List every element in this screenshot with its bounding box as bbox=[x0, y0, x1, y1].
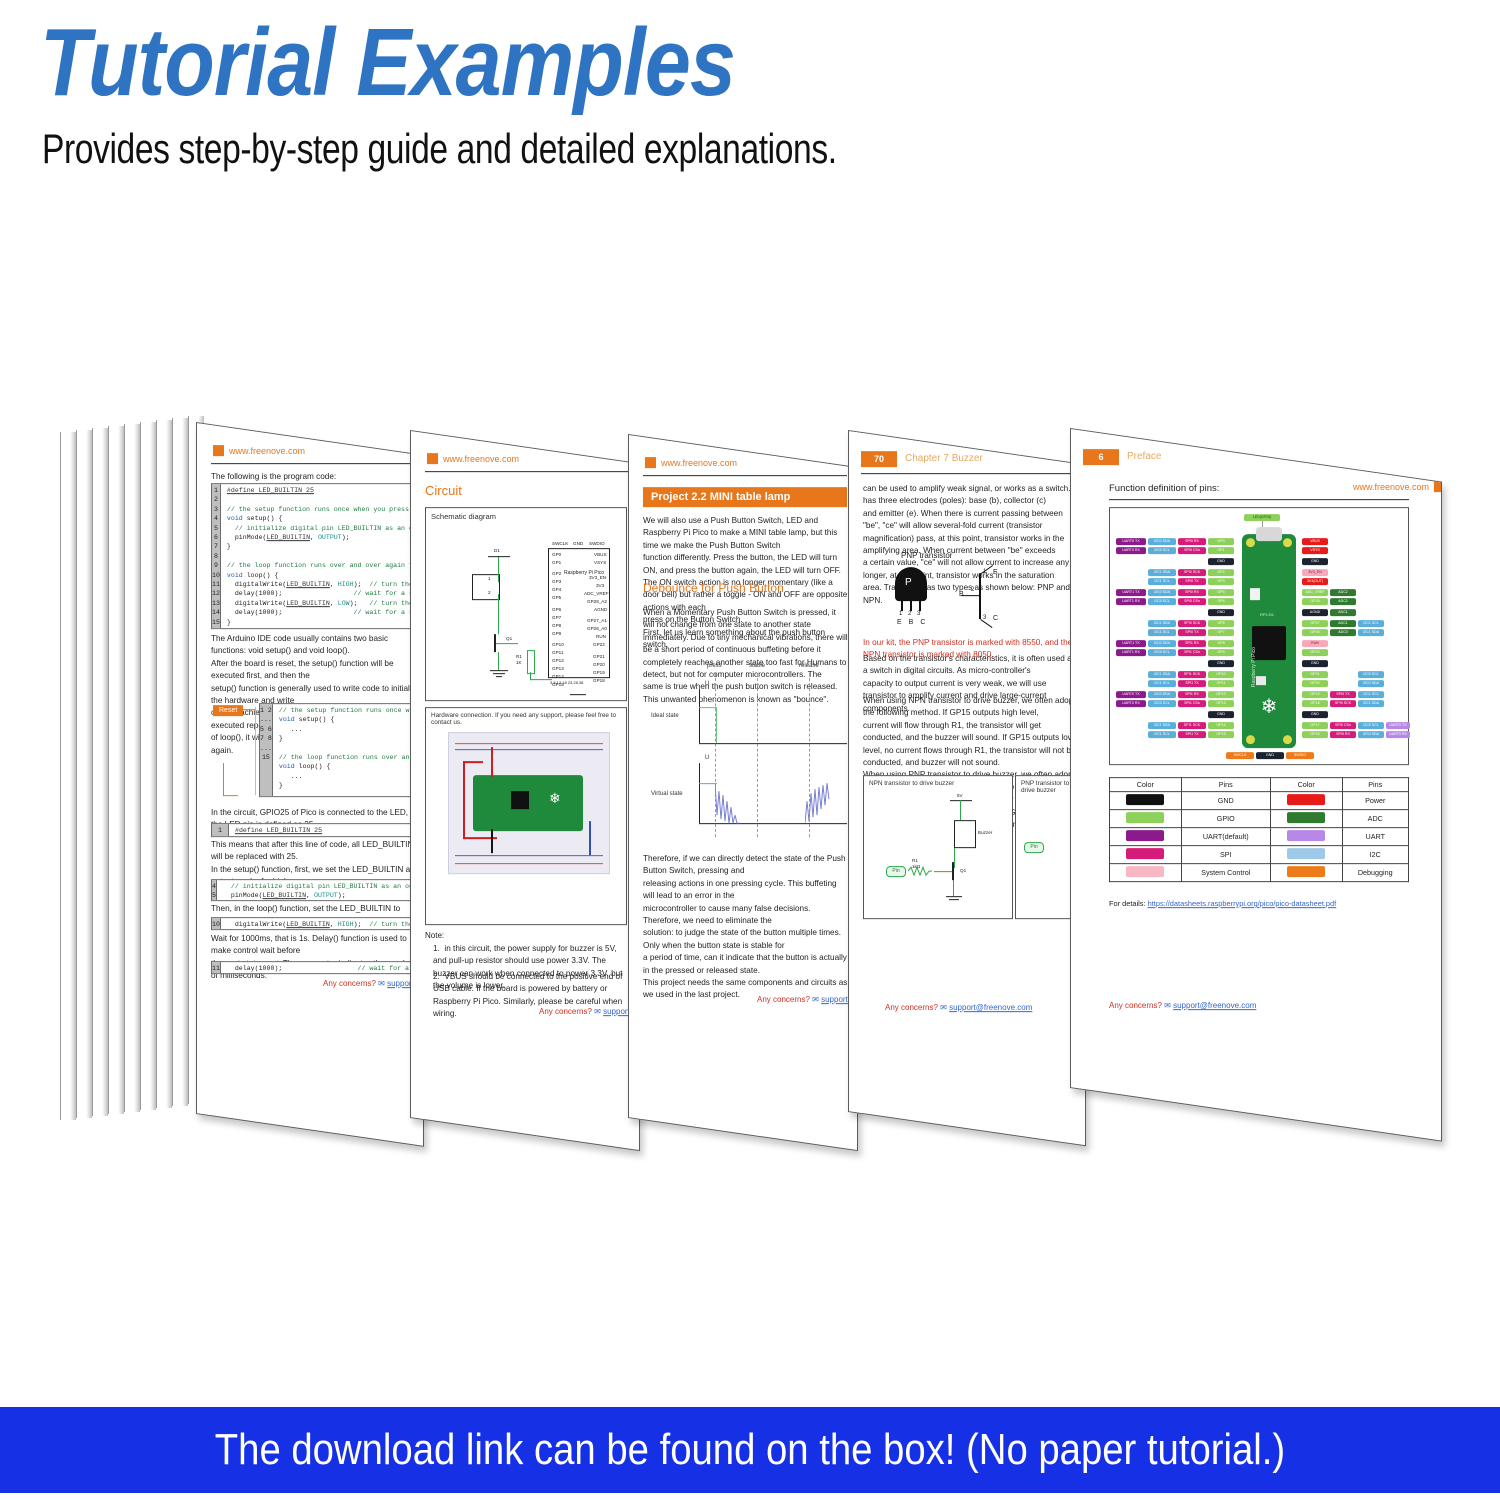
page-footer: Any concerns? ✉ support@freenove.com bbox=[539, 1007, 640, 1016]
legend-swatch-cell bbox=[1270, 828, 1342, 846]
symbol-pin-num: 1 bbox=[983, 569, 986, 575]
transistor-pin-num: 2 bbox=[908, 611, 911, 617]
jumper-wire-red bbox=[491, 747, 493, 777]
schematic-part-ref: R1 bbox=[516, 654, 522, 659]
code-block-flow: 1 2 ... 5 6 7 8 ... 15 // the setup func… bbox=[259, 703, 413, 797]
schematic-supply-rail bbox=[488, 556, 510, 557]
waveform-row-label: Virtual state bbox=[651, 791, 683, 797]
transistor-legend: EBC bbox=[897, 619, 932, 626]
download-banner-text: The download link can be found on the bo… bbox=[98, 1407, 1403, 1493]
legend-header-color: Color bbox=[1270, 778, 1342, 792]
schematic-ground-bottom bbox=[570, 694, 586, 695]
header-rule bbox=[1109, 499, 1409, 500]
schematic-top-pin: SWDIO bbox=[589, 541, 605, 546]
code-text: // the setup function runs once when you… bbox=[273, 704, 424, 796]
waveform-ideal-trace bbox=[699, 707, 717, 708]
code-text: #define LED_BUILTIN 25 bbox=[229, 824, 412, 836]
code-intro: The following is the program code: bbox=[211, 471, 411, 483]
tutorial-sheet-code[interactable]: www.freenove.com The following is the pr… bbox=[196, 422, 424, 1147]
envelope-icon: ✉ bbox=[1164, 1001, 1171, 1010]
page-footer: Any concerns? ✉ support@freenove.com bbox=[885, 1003, 1032, 1012]
jumper-wire-black bbox=[491, 829, 493, 853]
legend-swatch-cell bbox=[1110, 828, 1182, 846]
envelope-icon: ✉ bbox=[940, 1003, 947, 1012]
usb-port-icon bbox=[1256, 527, 1282, 541]
schematic-wire bbox=[498, 594, 499, 634]
transistor-ref: Q1 bbox=[960, 868, 966, 873]
buzzer-symbol bbox=[954, 820, 976, 848]
flow-loop-arrow bbox=[223, 763, 238, 796]
freenove-square-icon bbox=[213, 445, 224, 456]
waveform-label-stable: stable bbox=[749, 663, 765, 669]
code-snippet-1: 1 #define LED_BUILTIN 25 bbox=[211, 823, 413, 837]
schematic-part-ref: Q1 bbox=[506, 636, 512, 641]
transistor-pin-num: 3 bbox=[917, 611, 920, 617]
debounce-heading: Debounce for Push Button bbox=[643, 581, 784, 595]
symbol-pin-num: 2 bbox=[971, 587, 974, 593]
schematic-ground bbox=[496, 676, 502, 677]
schematic-led-pin1: 1 bbox=[488, 576, 491, 581]
code-gutter: 11 bbox=[212, 962, 221, 973]
pinout-heading: Function definition of pins: bbox=[1109, 483, 1219, 494]
envelope-icon: ✉ bbox=[378, 979, 385, 988]
legend-swatch-debugging bbox=[1287, 866, 1325, 877]
legend-swatch-system-control bbox=[1126, 866, 1164, 877]
site-url: www.freenove.com bbox=[1353, 482, 1429, 492]
legend-name-cell: System Control bbox=[1181, 864, 1270, 882]
envelope-icon: ✉ bbox=[594, 1007, 601, 1016]
waveform-label-release: release bbox=[799, 663, 819, 669]
legend-name-cell: ADC bbox=[1342, 810, 1409, 828]
site-url: www.freenove.com bbox=[661, 458, 737, 468]
legend-swatch-cell bbox=[1110, 846, 1182, 864]
reset-badge: Reset bbox=[213, 705, 243, 716]
legend-swatch-cell bbox=[1110, 810, 1182, 828]
circuit-wire bbox=[954, 848, 955, 868]
circuit-wire bbox=[953, 880, 954, 896]
bottom-label-gnd: GND bbox=[1256, 752, 1284, 759]
circuit-heading: Circuit bbox=[425, 483, 462, 498]
page-number-badge: 70 bbox=[861, 451, 897, 467]
breadboard-rail-red bbox=[455, 863, 603, 864]
footer-question: Any concerns? bbox=[757, 995, 810, 1004]
legend-swatch-uart-default bbox=[1126, 830, 1164, 841]
resistor-zigzag-icon bbox=[908, 866, 932, 876]
schematic-part-ref: D1 bbox=[494, 548, 500, 553]
page-subtitle: Provides step-by-step guide and detailed… bbox=[42, 125, 837, 173]
freenove-square-icon bbox=[645, 457, 656, 468]
table-row: GPIO ADC bbox=[1110, 810, 1409, 828]
led-mount-hole bbox=[1246, 735, 1255, 744]
debounce-waveform: press stable release U Ideal state U bbox=[643, 663, 849, 841]
schematic-top-pin: GND bbox=[573, 541, 583, 546]
pnp-circuit-title: PNP transistor to drive buzzer bbox=[1021, 780, 1077, 794]
crystal bbox=[1256, 676, 1266, 685]
header-rule bbox=[861, 473, 1075, 474]
legend-swatch-i2c bbox=[1287, 848, 1325, 859]
header-rule bbox=[425, 471, 629, 472]
stack-edge bbox=[172, 418, 188, 1106]
waveform-label-press: press bbox=[707, 663, 722, 669]
schematic-top-pin: SWCLK bbox=[552, 541, 568, 546]
table-row: UART(default) UART bbox=[1110, 828, 1409, 846]
download-banner: The download link can be found on the bo… bbox=[0, 1407, 1500, 1493]
table-row: SPI I2C bbox=[1110, 846, 1409, 864]
transistor-photo: P 1 2 3 bbox=[891, 567, 931, 617]
schematic-label: Schematic diagram bbox=[431, 512, 496, 521]
symbol-pin-label: B bbox=[959, 591, 964, 598]
waveform-y-axis bbox=[699, 689, 700, 743]
legend-name-cell: UART bbox=[1342, 828, 1409, 846]
page-title: Tutorial Examples bbox=[40, 8, 735, 118]
table-row: System Control Debugging bbox=[1110, 864, 1409, 882]
waveform-y-axis bbox=[699, 763, 700, 823]
breadboard-rail-blue bbox=[455, 855, 603, 856]
board-silk: RP2-B1 bbox=[1260, 612, 1274, 617]
page-number-badge: 6 bbox=[1083, 449, 1119, 465]
bottom-label-swdio: SWDIO bbox=[1286, 752, 1314, 759]
circuit-wire bbox=[934, 871, 952, 872]
symbol-pin-label: E bbox=[993, 569, 998, 576]
legend-name-cell: SPI bbox=[1181, 846, 1270, 864]
details-label: For details: bbox=[1109, 899, 1146, 908]
code-gutter: 10 bbox=[212, 918, 221, 929]
page-footer: Any concerns? ✉ support@freenove.com bbox=[1109, 1001, 1256, 1010]
schematic-wire bbox=[498, 574, 499, 582]
hardware-label: Hardware connection. If you need any sup… bbox=[431, 712, 623, 726]
led-mount-hole bbox=[1283, 735, 1292, 744]
waveform-axis-symbol: U bbox=[705, 755, 709, 761]
led-mount-hole bbox=[1283, 538, 1292, 547]
bottom-label-swclk: SWCLK bbox=[1226, 752, 1254, 759]
site-logo: www.freenove.com bbox=[427, 453, 519, 464]
schematic-ground bbox=[493, 673, 505, 674]
table-row: GND Power bbox=[1110, 792, 1409, 810]
site-url: www.freenove.com bbox=[229, 446, 305, 456]
waveform-guide bbox=[757, 673, 758, 837]
tutorial-sheet-preface[interactable]: 6 Preface Function definition of pins: w… bbox=[1070, 428, 1442, 1142]
table-header-row: Color Pins Color Pins bbox=[1110, 778, 1409, 792]
color-legend-table: Color Pins Color Pins GND Power GPIO bbox=[1109, 777, 1409, 882]
supply-rail bbox=[950, 800, 972, 801]
legend-swatch-power bbox=[1287, 794, 1325, 805]
site-url: www.freenove.com bbox=[443, 454, 519, 464]
datasheet-link[interactable]: https://datasheets.raspberrypi.org/pico/… bbox=[1148, 899, 1337, 908]
site-logo: www.freenove.com bbox=[645, 457, 737, 468]
transistor-caption: PNP transistor bbox=[901, 551, 952, 560]
footer-question: Any concerns? bbox=[539, 1007, 592, 1016]
circuit-wire bbox=[960, 800, 961, 820]
code-snippet-2: 4 5 // initialize digital pin LED_BUILTI… bbox=[211, 879, 413, 901]
footer-email[interactable]: support@freenove.com bbox=[1173, 1001, 1256, 1010]
legend-swatch-adc bbox=[1287, 812, 1325, 823]
schematic-part-value: 1K bbox=[516, 660, 522, 665]
footer-question: Any concerns? bbox=[885, 1003, 938, 1012]
code-gutter: 1 bbox=[212, 824, 229, 836]
stack-edge bbox=[92, 428, 108, 1116]
transistor-pin-num: 1 bbox=[899, 611, 902, 617]
raspberry-logo-icon: ❄ bbox=[1261, 694, 1278, 719]
footer-question: Any concerns? bbox=[1109, 1001, 1162, 1010]
schematic-led-pin2: 2 bbox=[488, 590, 491, 595]
tutorial-page-stack: www.freenove.com The following is the pr… bbox=[0, 400, 1500, 1200]
npn-circuit-box: NPN transistor to drive buzzer 5V Buzzer… bbox=[863, 775, 1013, 919]
legend-name-cell: Power bbox=[1342, 792, 1409, 810]
footer-question: Any concerns? bbox=[323, 979, 376, 988]
freenove-square-icon bbox=[427, 453, 438, 464]
waveform-bounce-icon bbox=[805, 781, 831, 825]
code-block-main: 1 2 3 4 5 6 7 8 9 10 11 12 13 14 15 #def… bbox=[211, 483, 413, 629]
stack-edge bbox=[156, 420, 172, 1108]
symbol-pin-num: 3 bbox=[983, 615, 986, 621]
jumper-wire-blue bbox=[589, 821, 591, 855]
schematic-box: Schematic diagram Raspberry Pi Pico SWCL… bbox=[425, 507, 627, 701]
code-gutter: 1 2 3 4 5 6 7 8 9 10 11 12 13 14 15 bbox=[212, 484, 221, 628]
raspberry-logo-icon: ❄ bbox=[549, 791, 561, 805]
legend-swatch-cell bbox=[1270, 864, 1342, 882]
code-text: #define LED_BUILTIN 25 // the setup func… bbox=[221, 484, 424, 628]
waveform-axis-symbol: U bbox=[705, 681, 709, 687]
tutorial-sheet-buzzer[interactable]: 70 Chapter 7 Buzzer can be used to ampli… bbox=[848, 430, 1086, 1146]
chapter-title: Preface bbox=[1127, 451, 1161, 462]
project-paragraph-3: Therefore, if we can directly detect the… bbox=[643, 853, 849, 1002]
schematic-ground bbox=[490, 670, 508, 671]
legend-swatch-spi bbox=[1126, 848, 1164, 859]
project-banner: Project 2.2 MINI table lamp bbox=[643, 487, 847, 507]
waveform-row-label: Ideal state bbox=[651, 713, 679, 719]
legend-swatch-gnd bbox=[1126, 794, 1164, 805]
freenove-square-icon bbox=[1434, 481, 1442, 492]
buzzer-label: Buzzer bbox=[978, 830, 992, 835]
legend-name-cell: UART(default) bbox=[1181, 828, 1270, 846]
tutorial-sheet-project[interactable]: www.freenove.com Project 2.2 MINI table … bbox=[628, 434, 858, 1151]
breadboard-rail-red bbox=[455, 743, 603, 744]
led-mount-hole bbox=[1246, 538, 1255, 547]
resistor-ref: R1 bbox=[912, 858, 918, 863]
stack-edge bbox=[60, 432, 76, 1120]
details-row: For details: https://datasheets.raspberr… bbox=[1109, 899, 1336, 908]
jumper-wire-red bbox=[463, 761, 483, 763]
schematic-bottom-pin-label: 3,8,13,18 23,28,38 bbox=[550, 680, 583, 685]
ground-symbol bbox=[949, 899, 959, 900]
jumper-wire-red bbox=[463, 761, 465, 839]
legend-swatch-cell bbox=[1110, 864, 1182, 882]
legend-name-cell: GPIO bbox=[1181, 810, 1270, 828]
symbol-pin-label: C bbox=[993, 615, 998, 622]
page-footer: Any concerns? ✉ support@freenove.com bbox=[323, 979, 424, 988]
schematic-resistor-symbol bbox=[527, 650, 535, 674]
code-text: digitalWrite(LED_BUILTIN, HIGH); // turn… bbox=[221, 918, 424, 929]
schematic-wire bbox=[530, 679, 552, 680]
stack-edge bbox=[124, 424, 140, 1112]
legend-header-color: Color bbox=[1110, 778, 1182, 792]
legend-name-cell: GND bbox=[1181, 792, 1270, 810]
transistor-symbol: 1 E 2 B 3 C bbox=[961, 569, 1005, 625]
waveform-bounce-icon bbox=[715, 781, 741, 825]
stack-edge bbox=[140, 422, 156, 1110]
rp2040-chip bbox=[1252, 626, 1286, 660]
code-gutter: 1 2 ... 5 6 7 8 ... 15 bbox=[260, 704, 273, 796]
legend-name-cell: Debugging bbox=[1342, 864, 1409, 882]
legend-swatch-uart bbox=[1287, 830, 1325, 841]
flash-chip bbox=[1250, 588, 1260, 600]
page-header: Tutorial Examples Provides step-by-step … bbox=[0, 0, 1500, 200]
npn-circuit-title: NPN transistor to drive buzzer bbox=[869, 780, 954, 787]
waveform-x-axis bbox=[699, 743, 847, 744]
supply-label: 5V bbox=[957, 793, 963, 798]
schematic-wire bbox=[496, 643, 518, 644]
legend-swatch-cell bbox=[1270, 792, 1342, 810]
transistor-bar bbox=[952, 862, 954, 880]
site-logo: www.freenove.com bbox=[1353, 481, 1442, 492]
legend-name-cell: I2C bbox=[1342, 846, 1409, 864]
code-snippet-4: 11 delay(1000); // wait for a seco bbox=[211, 961, 413, 974]
code-text: // initialize digital pin LED_BUILTIN as… bbox=[217, 880, 424, 900]
code-paragraph-5: Wait for 1000ms, that is 1s. Delay() fun… bbox=[211, 933, 423, 983]
site-logo: www.freenove.com bbox=[213, 445, 305, 456]
pico-chip bbox=[511, 791, 529, 809]
page-footer: Any concerns? ✉ support@freenove.com bbox=[757, 995, 858, 1004]
pico-board: RP2-B1 ❄ Raspberry Pi Pico bbox=[1242, 534, 1296, 748]
hardware-box: Hardware connection. If you need any sup… bbox=[425, 707, 627, 925]
code-text: delay(1000); // wait for a seco bbox=[221, 962, 424, 973]
board-silk-name: Raspberry Pi Pico bbox=[1251, 647, 1257, 687]
legend-header-pins: Pins bbox=[1342, 778, 1409, 792]
legend-swatch-cell bbox=[1270, 846, 1342, 864]
waveform-ideal-trace bbox=[716, 707, 717, 743]
header-rule bbox=[643, 475, 847, 476]
envelope-icon: ✉ bbox=[812, 995, 819, 1004]
stack-edge bbox=[108, 426, 124, 1114]
legend-swatch-gpio bbox=[1126, 812, 1164, 823]
breadboard-rail-blue bbox=[455, 749, 603, 750]
breadboard: ❄ bbox=[448, 732, 610, 874]
note-title: Note: bbox=[425, 931, 444, 940]
header-rule bbox=[211, 463, 413, 464]
legend-swatch-cell bbox=[1110, 792, 1182, 810]
stack-edge bbox=[76, 430, 92, 1118]
pinout-box: LED(GP25) RP2-B1 ❄ Raspber bbox=[1109, 507, 1409, 765]
legend-swatch-cell bbox=[1270, 810, 1342, 828]
ground-symbol bbox=[946, 896, 962, 897]
flow-arrow-line bbox=[239, 709, 255, 710]
flow-rail bbox=[255, 707, 256, 795]
legend-header-pins: Pins bbox=[1181, 778, 1270, 792]
schematic-wire bbox=[498, 652, 499, 670]
code-snippet-3: 10 digitalWrite(LED_BUILTIN, HIGH); // t… bbox=[211, 917, 413, 930]
tutorial-sheet-circuit[interactable]: www.freenove.com Circuit Schematic diagr… bbox=[410, 430, 640, 1151]
pin-node: Pin bbox=[1024, 842, 1044, 853]
pinout-top-label: LED(GP25) bbox=[1244, 514, 1280, 521]
pin-node: Pin bbox=[886, 866, 906, 877]
footer-email[interactable]: support@freenove.com bbox=[949, 1003, 1032, 1012]
chapter-title: Chapter 7 Buzzer bbox=[905, 453, 983, 464]
schematic-led-module bbox=[472, 574, 500, 600]
